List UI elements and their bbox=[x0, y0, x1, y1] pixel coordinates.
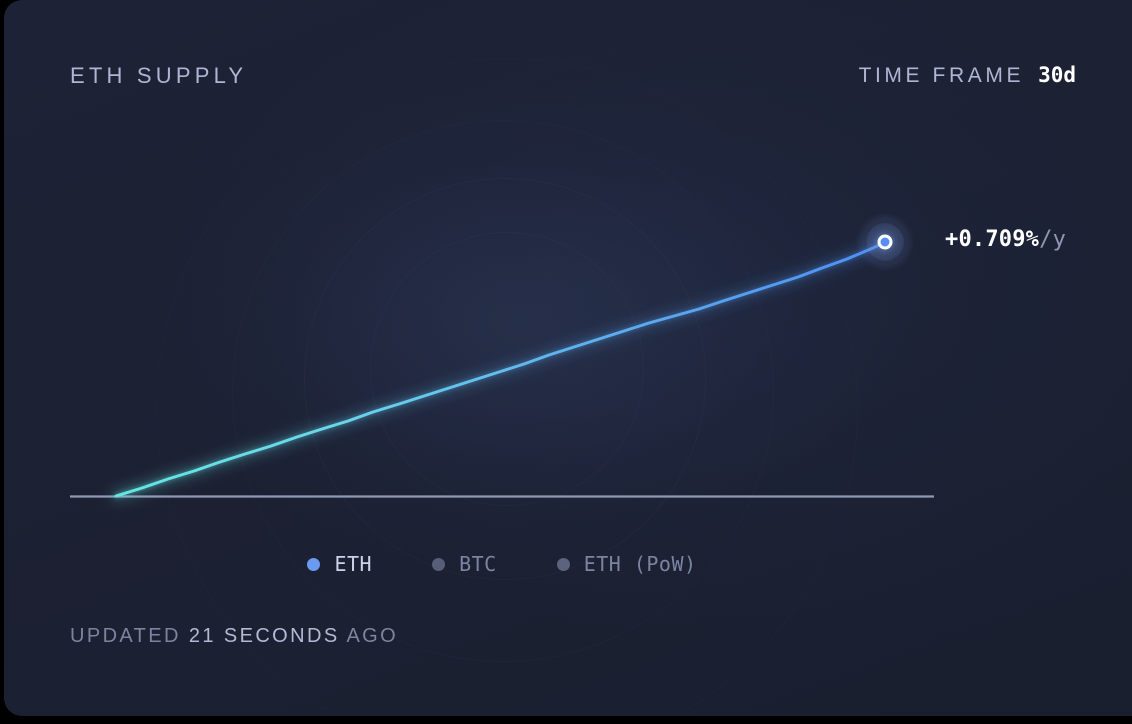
updated-time: 21 SECONDS bbox=[189, 625, 340, 647]
background-ring-decoration bbox=[156, 58, 858, 716]
legend-item-eth-pow[interactable]: ETH (PoW) bbox=[557, 552, 697, 576]
legend-dot-icon bbox=[307, 558, 320, 571]
legend-item-btc[interactable]: BTC bbox=[432, 552, 497, 576]
growth-rate-value: +0.709% bbox=[945, 227, 1039, 252]
card-header: ETH SUPPLY TIME FRAME 30d bbox=[4, 0, 1132, 130]
page-title: ETH SUPPLY bbox=[70, 63, 247, 89]
legend-dot-icon bbox=[432, 558, 445, 571]
updated-suffix: AGO bbox=[346, 625, 398, 647]
legend-label-eth: ETH bbox=[334, 552, 372, 576]
background-ring-decoration bbox=[304, 178, 706, 580]
timeframe-selector[interactable]: TIME FRAME 30d bbox=[859, 63, 1076, 88]
legend-dot-icon bbox=[557, 558, 570, 571]
supply-line-chart bbox=[4, 0, 1132, 716]
chart-legend: ETH BTC ETH (PoW) bbox=[4, 552, 1000, 576]
screenshot-frame: ETH SUPPLY TIME FRAME 30d bbox=[0, 0, 1132, 724]
legend-label-btc: BTC bbox=[459, 552, 497, 576]
growth-rate-callout: +0.709%/y bbox=[945, 227, 1066, 252]
eth-supply-line bbox=[116, 242, 885, 496]
eth-supply-card: ETH SUPPLY TIME FRAME 30d bbox=[4, 0, 1132, 716]
background-ring-decoration bbox=[232, 120, 774, 662]
timeframe-value[interactable]: 30d bbox=[1038, 63, 1076, 87]
eth-line-halo bbox=[116, 242, 885, 496]
growth-rate-unit: /y bbox=[1039, 227, 1066, 252]
legend-item-eth[interactable]: ETH bbox=[307, 552, 372, 576]
timeframe-label: TIME FRAME bbox=[859, 64, 1025, 88]
updated-prefix: UPDATED bbox=[70, 625, 181, 647]
marker-dot-icon bbox=[878, 235, 893, 250]
legend-label-eth-pow: ETH (PoW) bbox=[584, 552, 697, 576]
background-ring-decoration bbox=[370, 232, 644, 506]
eth-line-glow bbox=[116, 242, 885, 496]
updated-status: UPDATED 21 SECONDS AGO bbox=[70, 625, 398, 648]
